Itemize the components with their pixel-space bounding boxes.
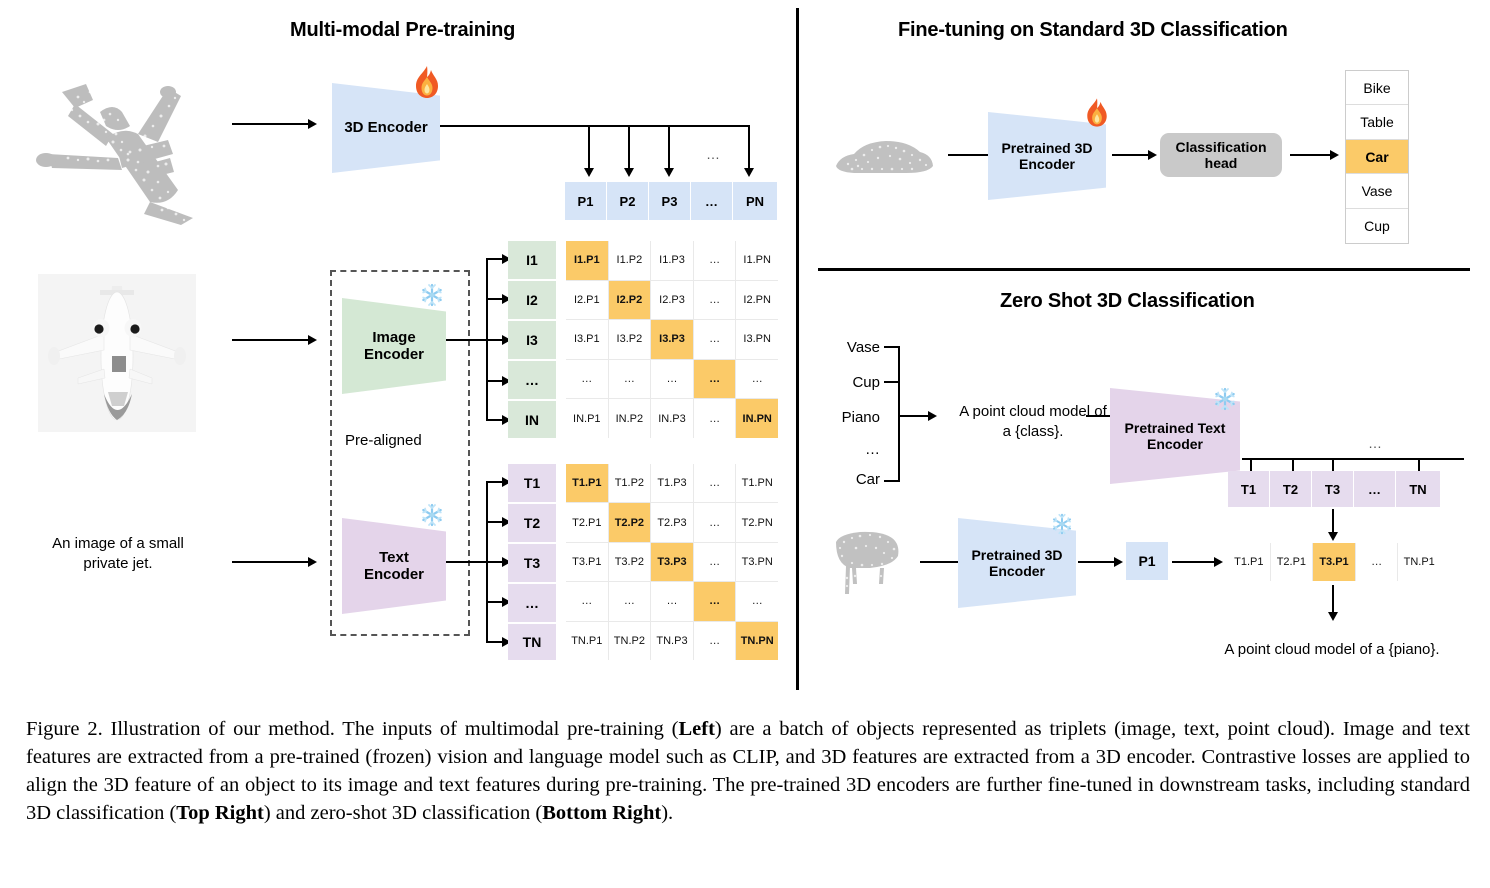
arrow-encoder-to-head [1112, 154, 1150, 156]
bus-3d-encoder [440, 125, 750, 127]
text-feature-strip-zeroshot: T1 T2 T3 … TN [1228, 471, 1440, 507]
matrix-cell[interactable]: T1.PN [736, 464, 778, 502]
matrix-cell[interactable]: TN.P1 [566, 622, 608, 660]
point-cloud-airplane [18, 42, 223, 227]
prompt-line2: a {class}. [1003, 423, 1064, 440]
class-bracket-spine [898, 346, 900, 482]
matrix-cell[interactable]: … [566, 360, 608, 399]
point-cloud-piano [826, 522, 910, 600]
matrix-cell[interactable]: T2.P3 [651, 503, 693, 541]
image-encoder-label-line2: Encoder [364, 346, 424, 363]
matrix-cell[interactable]: T1.P1 [566, 464, 608, 502]
text-input-caption: An image of a small private jet. [28, 534, 208, 573]
arrow-head [308, 335, 317, 345]
matrix-cell[interactable]: I2.PN [736, 281, 778, 320]
score-cell[interactable]: TN.P1 [1398, 543, 1440, 581]
zeroshot-encoder-label-line2: Encoder [971, 563, 1062, 579]
point-feature-cell[interactable]: P2 [607, 182, 649, 220]
arrow-head [584, 168, 594, 177]
matrix-cell[interactable]: T2.P1 [566, 503, 608, 541]
point-feature-strip: P1 P2 P3 … PN [565, 182, 777, 220]
matrix-cell[interactable]: … [694, 281, 736, 320]
classification-head-label-line2: head [1175, 155, 1266, 171]
branch-p2 [628, 125, 630, 173]
finetune-encoder-label-line2: Encoder [1001, 156, 1092, 172]
arrow-head [928, 411, 937, 421]
image-feature-cell[interactable]: I3 [508, 321, 556, 361]
arrow-p1-to-scorerow [1172, 561, 1216, 563]
matrix-cell[interactable]: … [694, 582, 736, 620]
matrix-cell[interactable]: I2.P3 [651, 281, 693, 320]
zeroshot-encoder-label-line1: Pretrained 3D [971, 547, 1062, 563]
text-encoder-label-line1: Text [364, 549, 424, 566]
score-cell[interactable]: T1.P1 [1228, 543, 1270, 581]
candidate-class-label: Cup [824, 373, 880, 393]
branch-pn [748, 125, 750, 173]
arrow-head [1114, 557, 1123, 567]
class-bracket-tick [884, 381, 900, 383]
text-feature-column: T1 T2 T3 … TN [508, 464, 556, 660]
matrix-cell[interactable]: T3.PN [736, 543, 778, 581]
matrix-cell[interactable]: I1.P1 [566, 241, 608, 280]
text-feature-cell[interactable]: … [1354, 471, 1396, 507]
arrow-head [744, 168, 754, 177]
score-cell-top[interactable]: T3.P1 [1313, 543, 1355, 581]
matrix-cell[interactable]: … [694, 360, 736, 399]
point-feature-p1[interactable]: P1 [1126, 542, 1168, 580]
encoder-3d-label: 3D Encoder [344, 119, 427, 136]
prompt-template: A point cloud model of a {class}. [940, 402, 1126, 441]
arrow-head [1330, 150, 1339, 160]
snowflake-icon [419, 282, 445, 308]
text-feature-cell[interactable]: TN [508, 624, 556, 660]
panel-vertical-divider [796, 8, 799, 690]
text-feature-cell[interactable]: T2 [508, 504, 556, 544]
classification-head[interactable]: Classification head [1160, 133, 1282, 177]
matrix-cell[interactable]: … [694, 622, 736, 660]
matrix-cell[interactable]: TN.P3 [651, 622, 693, 660]
class-list-finetune: Bike Table Car Vase Cup [1345, 70, 1409, 244]
matrix-cell[interactable]: … [694, 399, 736, 438]
figure-caption: Figure 2. Illustration of our method. Th… [26, 716, 1470, 828]
matrix-cell[interactable]: … [694, 503, 736, 541]
matrix-cell[interactable]: I3.P3 [651, 320, 693, 359]
snowflake-icon [419, 502, 445, 528]
matrix-cell[interactable]: … [694, 464, 736, 502]
class-list-item[interactable]: Table [1346, 105, 1408, 139]
matrix-cell[interactable]: T2.PN [736, 503, 778, 541]
matrix-cell[interactable]: … [736, 360, 778, 399]
class-list-item-selected[interactable]: Car [1346, 140, 1408, 174]
matrix-cell[interactable]: I1.P3 [651, 241, 693, 280]
arrow-car-to-encoder [948, 154, 992, 156]
branch-p1 [588, 125, 590, 173]
matrix-cell[interactable]: IN.P3 [651, 399, 693, 438]
arrow-head [1328, 532, 1338, 541]
arrow-head-to-classlist [1290, 154, 1332, 156]
branch-p3 [668, 125, 670, 173]
matrix-cell[interactable]: I2.P1 [566, 281, 608, 320]
matrix-cell[interactable]: … [694, 320, 736, 359]
matrix-cell[interactable]: T3.P2 [609, 543, 651, 581]
arrow-head [624, 168, 634, 177]
arrow-head [308, 119, 317, 129]
matrix-cell[interactable]: … [736, 582, 778, 620]
zeroshot-score-row: T1.P1 T2.P1 T3.P1 … TN.P1 [1228, 543, 1440, 581]
arrow-pointcloud-to-3d-encoder [232, 123, 310, 125]
fanout-image-encoder [446, 339, 488, 341]
prompt-line1: A point cloud model of [959, 403, 1107, 420]
candidate-class-label: Car [824, 470, 880, 490]
snowflake-icon [1212, 386, 1238, 412]
point-cloud-car [828, 128, 938, 184]
pretrained-text-encoder-label-line1: Pretrained Text [1125, 420, 1226, 436]
score-cell[interactable]: T2.P1 [1271, 543, 1313, 581]
class-bracket-tick [884, 346, 900, 348]
figure-canvas: Multi-modal Pre-training [0, 0, 1490, 700]
class-list-item[interactable]: Vase [1346, 174, 1408, 208]
text-feature-cell[interactable]: T3 [1312, 471, 1354, 507]
prealigned-label: Pre-aligned [345, 432, 422, 449]
candidate-class-label: Vase [824, 338, 880, 358]
finetune-encoder-label-line1: Pretrained 3D [1001, 140, 1092, 156]
matrix-cell[interactable]: T3.P1 [566, 543, 608, 581]
image-feature-cell[interactable]: IN [508, 401, 556, 438]
matrix-cell[interactable]: … [609, 360, 651, 399]
matrix-cell[interactable]: … [609, 582, 651, 620]
matrix-cell[interactable]: I3.P1 [566, 320, 608, 359]
bus-ellipsis: … [698, 145, 728, 163]
fire-icon [1082, 96, 1112, 129]
matrix-cell[interactable]: … [694, 543, 736, 581]
score-cell[interactable]: … [1356, 543, 1398, 581]
bottom-right-panel-title: Zero Shot 3D Classification [1000, 290, 1255, 313]
matrix-cell[interactable]: I2.P2 [609, 281, 651, 320]
image-point-similarity-matrix: I1.P1 I1.P2 I1.P3 … I1.PN I2.P1 I2.P2 I2… [566, 241, 778, 438]
pretrained-text-encoder-label-line2: Encoder [1125, 436, 1226, 452]
point-feature-p1-label: P1 [1138, 553, 1155, 569]
image-feature-cell[interactable]: I2 [508, 281, 556, 321]
fire-icon [410, 64, 444, 100]
text-feature-cell[interactable]: T1 [508, 464, 556, 504]
bus-text-encoder-zeroshot [1242, 458, 1464, 460]
candidate-class-ellipsis: … [824, 440, 880, 460]
matrix-cell[interactable]: IN.PN [736, 399, 778, 438]
fanout-text-encoder [446, 561, 488, 563]
point-feature-cell[interactable]: P1 [565, 182, 607, 220]
image-feature-cell[interactable]: I1 [508, 241, 556, 281]
class-list-item[interactable]: Bike [1346, 71, 1408, 105]
input-image-jet [38, 274, 196, 432]
arrow-head [1328, 612, 1338, 621]
text-encoder[interactable]: Text Encoder [342, 518, 446, 614]
matrix-cell[interactable]: I3.P2 [609, 320, 651, 359]
arrow-head [1148, 150, 1157, 160]
image-feature-cell[interactable]: … [508, 361, 556, 401]
matrix-cell[interactable]: IN.P1 [566, 399, 608, 438]
class-bracket-tick [884, 480, 900, 482]
matrix-cell[interactable]: IN.P2 [609, 399, 651, 438]
matrix-cell[interactable]: TN.P2 [609, 622, 651, 660]
matrix-cell[interactable]: I1.PN [736, 241, 778, 280]
arrow-head [308, 557, 317, 567]
matrix-cell[interactable]: T3.P3 [651, 543, 693, 581]
matrix-cell[interactable]: T1.P3 [651, 464, 693, 502]
text-encoder-label-line2: Encoder [364, 566, 424, 583]
text-feature-cell[interactable]: … [508, 584, 556, 624]
point-feature-cell[interactable]: … [691, 182, 733, 220]
arrow-image-to-image-encoder [232, 339, 310, 341]
matrix-cell[interactable]: … [566, 582, 608, 620]
image-feature-column: I1 I2 I3 … IN [508, 241, 556, 438]
arrow-piano-to-encoder [920, 561, 962, 563]
text-feature-cell[interactable]: T3 [508, 544, 556, 584]
matrix-cell[interactable]: … [651, 582, 693, 620]
matrix-cell[interactable]: I1.P2 [609, 241, 651, 280]
top-right-panel-title: Fine-tuning on Standard 3D Classificatio… [898, 19, 1288, 42]
matrix-cell[interactable]: … [651, 360, 693, 399]
snowflake-icon [1050, 512, 1074, 536]
matrix-cell[interactable]: TN.PN [736, 622, 778, 660]
class-list-item[interactable]: Cup [1346, 209, 1408, 243]
left-panel-title: Multi-modal Pre-training [290, 19, 515, 42]
text-feature-cell[interactable]: T1 [1228, 471, 1270, 507]
arrow-scorerow-to-result [1332, 585, 1334, 615]
arrow-encoder-to-p1 [1078, 561, 1116, 563]
arrow-head [1214, 557, 1223, 567]
arrow-text-to-text-encoder [232, 561, 310, 563]
text-feature-cell[interactable]: TN [1396, 471, 1440, 507]
text-feature-cell[interactable]: T2 [1270, 471, 1312, 507]
point-feature-cell[interactable]: P3 [649, 182, 691, 220]
arrow-head [664, 168, 674, 177]
arrow-classes-to-prompt [898, 415, 930, 417]
image-encoder[interactable]: Image Encoder [342, 298, 446, 394]
bus-ellipsis: … [1360, 434, 1390, 452]
classification-head-label-line1: Classification [1175, 139, 1266, 155]
matrix-cell[interactable]: … [694, 241, 736, 280]
text-point-similarity-matrix: T1.P1 T1.P2 T1.P3 … T1.PN T2.P1 T2.P2 T2… [566, 464, 778, 660]
image-encoder-label-line1: Image [364, 329, 424, 346]
candidate-class-label: Piano [818, 408, 880, 428]
zeroshot-result-text: A point cloud model of a {piano}. [1192, 640, 1472, 660]
matrix-cell[interactable]: T2.P2 [609, 503, 651, 541]
right-panel-horizontal-divider [818, 268, 1470, 271]
matrix-cell[interactable]: T1.P2 [609, 464, 651, 502]
matrix-cell[interactable]: I3.PN [736, 320, 778, 359]
point-feature-cell[interactable]: PN [733, 182, 777, 220]
